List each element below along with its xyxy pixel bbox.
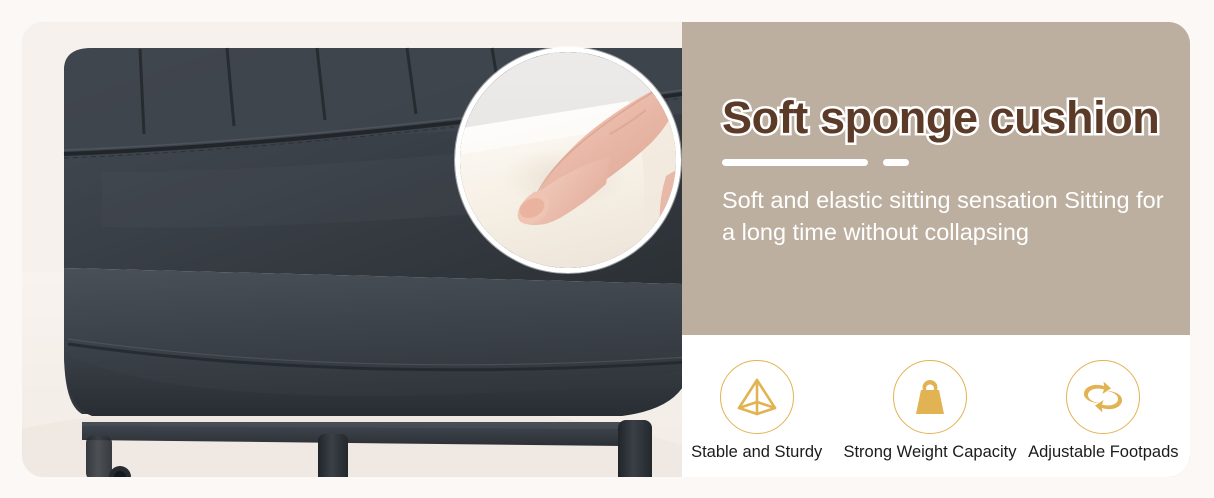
foam-press-photo <box>455 47 681 273</box>
weight-icon <box>893 360 967 434</box>
pyramid-icon <box>720 360 794 434</box>
feature-item: Strong Weight Capacity <box>843 360 1016 477</box>
feature-list: Stable and Sturdy Strong Weight Capacity <box>670 360 1190 477</box>
feature-label: Adjustable Footpads <box>1028 443 1178 462</box>
divider-short <box>883 159 909 166</box>
feature-label: Strong Weight Capacity <box>843 443 1016 462</box>
page-title: Soft sponge cushion <box>722 94 1172 142</box>
adjust-arrows-icon <box>1066 360 1140 434</box>
text-column: Soft sponge cushion Soft and elastic sit… <box>722 94 1172 248</box>
feature-banner: Soft sponge cushion Soft and elastic sit… <box>22 22 1190 477</box>
body-text: Soft and elastic sitting sensation Sitti… <box>722 184 1170 248</box>
feature-item: Stable and Sturdy <box>670 360 843 477</box>
divider-group <box>722 159 1172 166</box>
feature-item: Adjustable Footpads <box>1017 360 1190 477</box>
divider-long <box>722 159 868 166</box>
feature-label: Stable and Sturdy <box>691 443 822 462</box>
